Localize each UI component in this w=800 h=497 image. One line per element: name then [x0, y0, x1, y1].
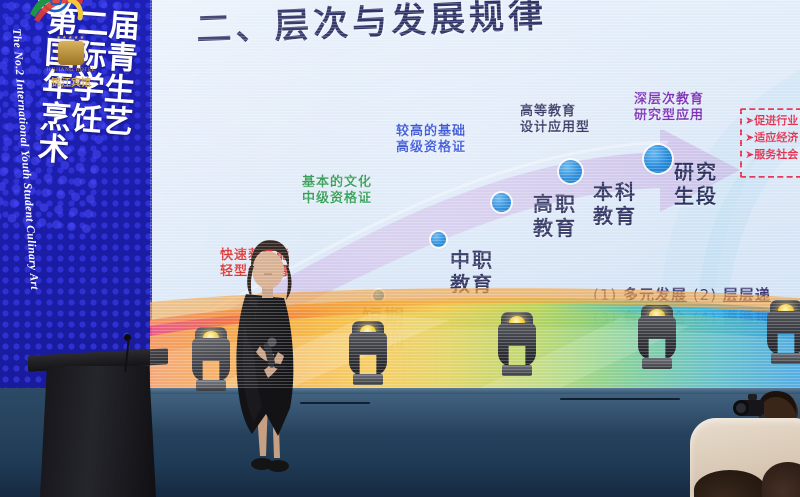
stage-label-4: 本科 教育 [593, 180, 637, 229]
stage-label-3-line2: 教育 [533, 216, 577, 240]
spotlight-yoke [767, 311, 800, 355]
stage-label-4-line2: 教育 [593, 204, 637, 228]
callout-item-1: ➤促进行业 [745, 112, 800, 129]
culinary-association-emblem-icon [26, 0, 84, 28]
spotlight-yoke [498, 323, 536, 367]
spotlight-yoke [638, 316, 676, 360]
stage-caption-4: 高等教育 设计应用型 [520, 104, 590, 136]
slide-title: 二、层次与发展规律 [195, 0, 548, 52]
stage-caption-5-line2: 研究型应用 [634, 108, 704, 124]
spotlight-base [642, 358, 672, 369]
stage-cable-1 [560, 398, 680, 400]
moving-head-spotlight-5 [763, 298, 800, 364]
spotlight-base [353, 374, 383, 385]
data-point-2 [431, 232, 446, 247]
stage-label-3-line1: 高职 [533, 192, 577, 216]
stage-caption-2-line1: 基本的文化 [302, 175, 372, 191]
stage-label-5: 研究 生段 [674, 160, 718, 209]
hotel-crest-icon [58, 41, 84, 65]
spotlight-base [771, 353, 800, 364]
hotel-logo: ★★★★★ JINJIANG HOTEL 锦江宾馆 [43, 36, 99, 88]
speaker-podium [28, 352, 168, 497]
stage-caption-2-line2: 中级资格证 [302, 191, 372, 207]
stage-caption-3: 较高的基础 高级资格证 [396, 124, 466, 156]
stage-caption-5-line1: 深层次教育 [634, 92, 704, 108]
stage-caption-4-line1: 高等教育 [520, 104, 590, 120]
data-point-5 [644, 145, 672, 173]
data-point-4 [559, 160, 582, 183]
stage-label-3: 高职 教育 [533, 192, 577, 241]
moving-head-spotlight-4 [634, 303, 680, 369]
stage-label-2-line1: 中职 [450, 248, 494, 272]
stage-caption-2: 基本的文化 中级资格证 [302, 175, 372, 207]
banner-title-cn: 第二届国际青年学生烹饪艺术 [37, 6, 152, 172]
hotel-name-en: JINJIANG HOTEL [43, 67, 99, 73]
spotlight-base [502, 365, 532, 376]
hotel-stars: ★★★★★ [43, 36, 99, 41]
spotlight-yoke [349, 332, 387, 376]
stage-label-5-line2: 生段 [674, 184, 718, 208]
callout-item-3: ➤服务社会 [745, 146, 800, 163]
moving-head-spotlight-3 [494, 310, 540, 376]
stage-caption-4-line2: 设计应用型 [520, 120, 590, 136]
goals-callout-box: ➤促进行业 ➤适应经济 ➤服务社会 [740, 108, 800, 178]
hotel-name-cn: 锦江宾馆 [43, 74, 99, 89]
callout-item-2: ➤适应经济 [745, 129, 800, 146]
moving-head-spotlight-2 [345, 319, 391, 385]
stage-caption-5: 深层次教育 研究型应用 [634, 92, 704, 124]
stage-label-5-line1: 研究 [674, 160, 718, 184]
stage-caption-3-line1: 较高的基础 [396, 124, 466, 140]
stage-caption-3-line2: 高级资格证 [396, 140, 466, 156]
data-point-3 [492, 193, 511, 212]
speaker-person [216, 238, 324, 483]
podium-body [40, 366, 156, 497]
stage-label-4-line1: 本科 [593, 180, 637, 204]
photo-scene: 二、层次与发展规律 短期 培训 中职 教育 高职 教育 本科 教育 研究 生段 [0, 0, 800, 497]
